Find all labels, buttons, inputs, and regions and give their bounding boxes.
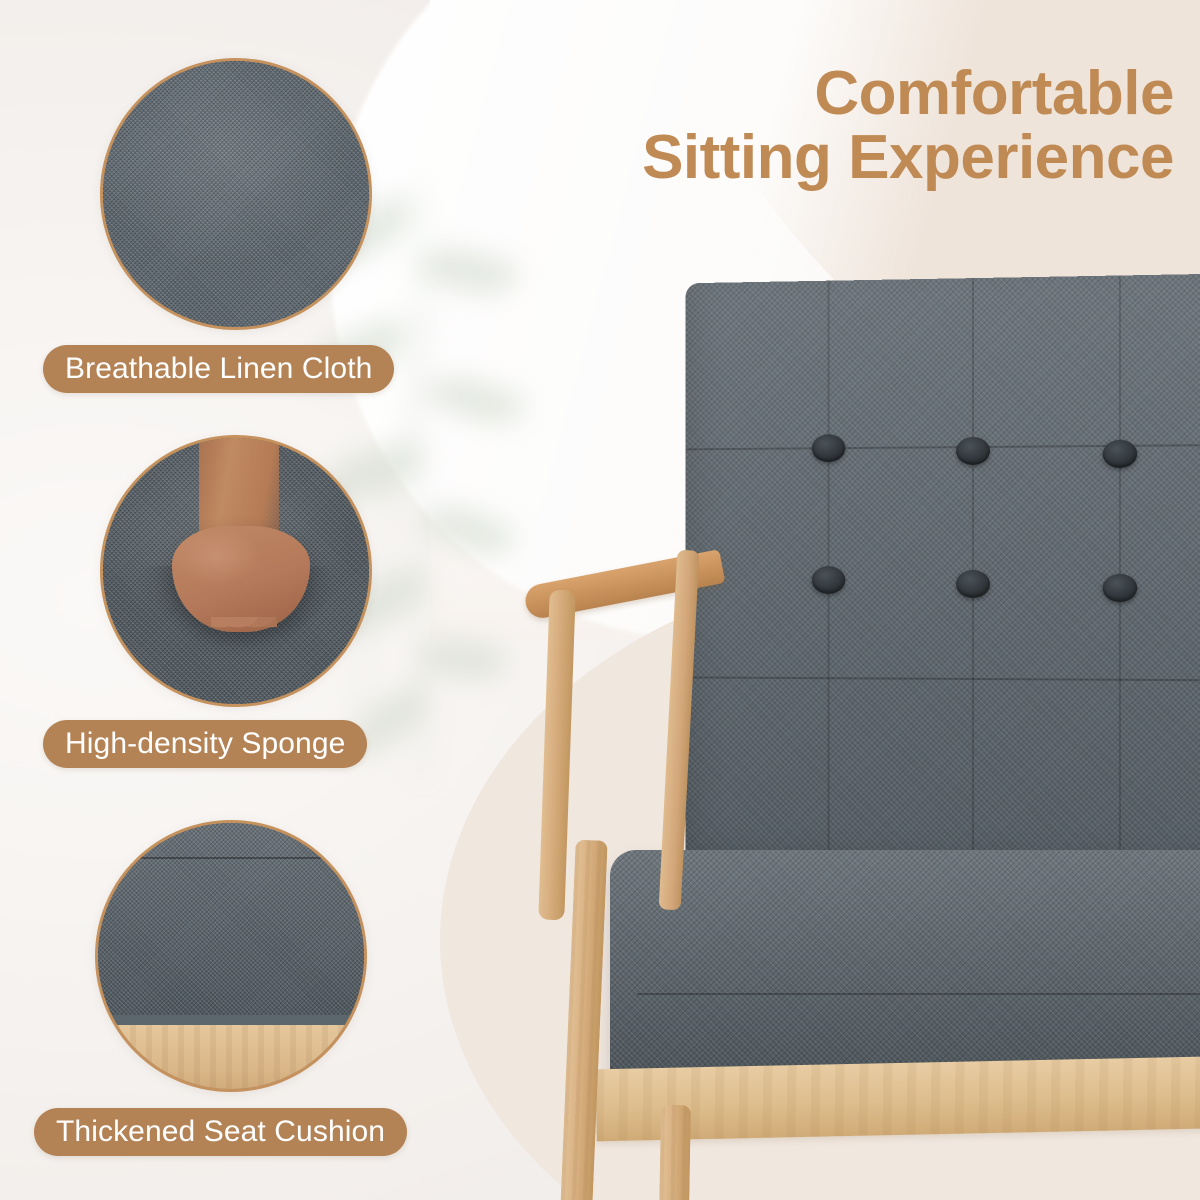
wood-frame-rail	[95, 1025, 367, 1092]
tufted-button	[1103, 440, 1138, 468]
sofa-product-image	[500, 250, 1200, 1200]
knuckles	[211, 617, 277, 634]
linen-fabric-closeup-image	[100, 58, 372, 330]
tufted-button	[956, 570, 990, 598]
tufted-button	[956, 437, 990, 465]
thick-cushion-closeup-image	[95, 820, 367, 1092]
feature-label-breathable-linen-cloth: Breathable Linen Cloth	[43, 345, 394, 393]
feature-label-high-density-sponge: High-density Sponge	[43, 720, 367, 768]
sofa-backrest	[686, 273, 1200, 899]
tufted-button	[1103, 574, 1138, 602]
sofa-arm-front-post	[538, 590, 576, 921]
feature-label-thickened-seat-cushion: Thickened Seat Cushion	[34, 1108, 407, 1156]
headline: Comfortable Sitting Experience	[414, 62, 1174, 191]
headline-line-2: Sitting Experience	[414, 126, 1174, 190]
sofa-seat-cushion	[610, 850, 1200, 1080]
product-feature-banner: Comfortable Sitting Experience Breathabl…	[0, 0, 1200, 1200]
sofa-leg-middle	[659, 1105, 691, 1200]
fist-pressing-cushion-image	[100, 435, 372, 707]
tufted-button	[812, 566, 845, 594]
headline-line-1: Comfortable	[414, 62, 1174, 126]
tufted-button	[812, 434, 845, 462]
